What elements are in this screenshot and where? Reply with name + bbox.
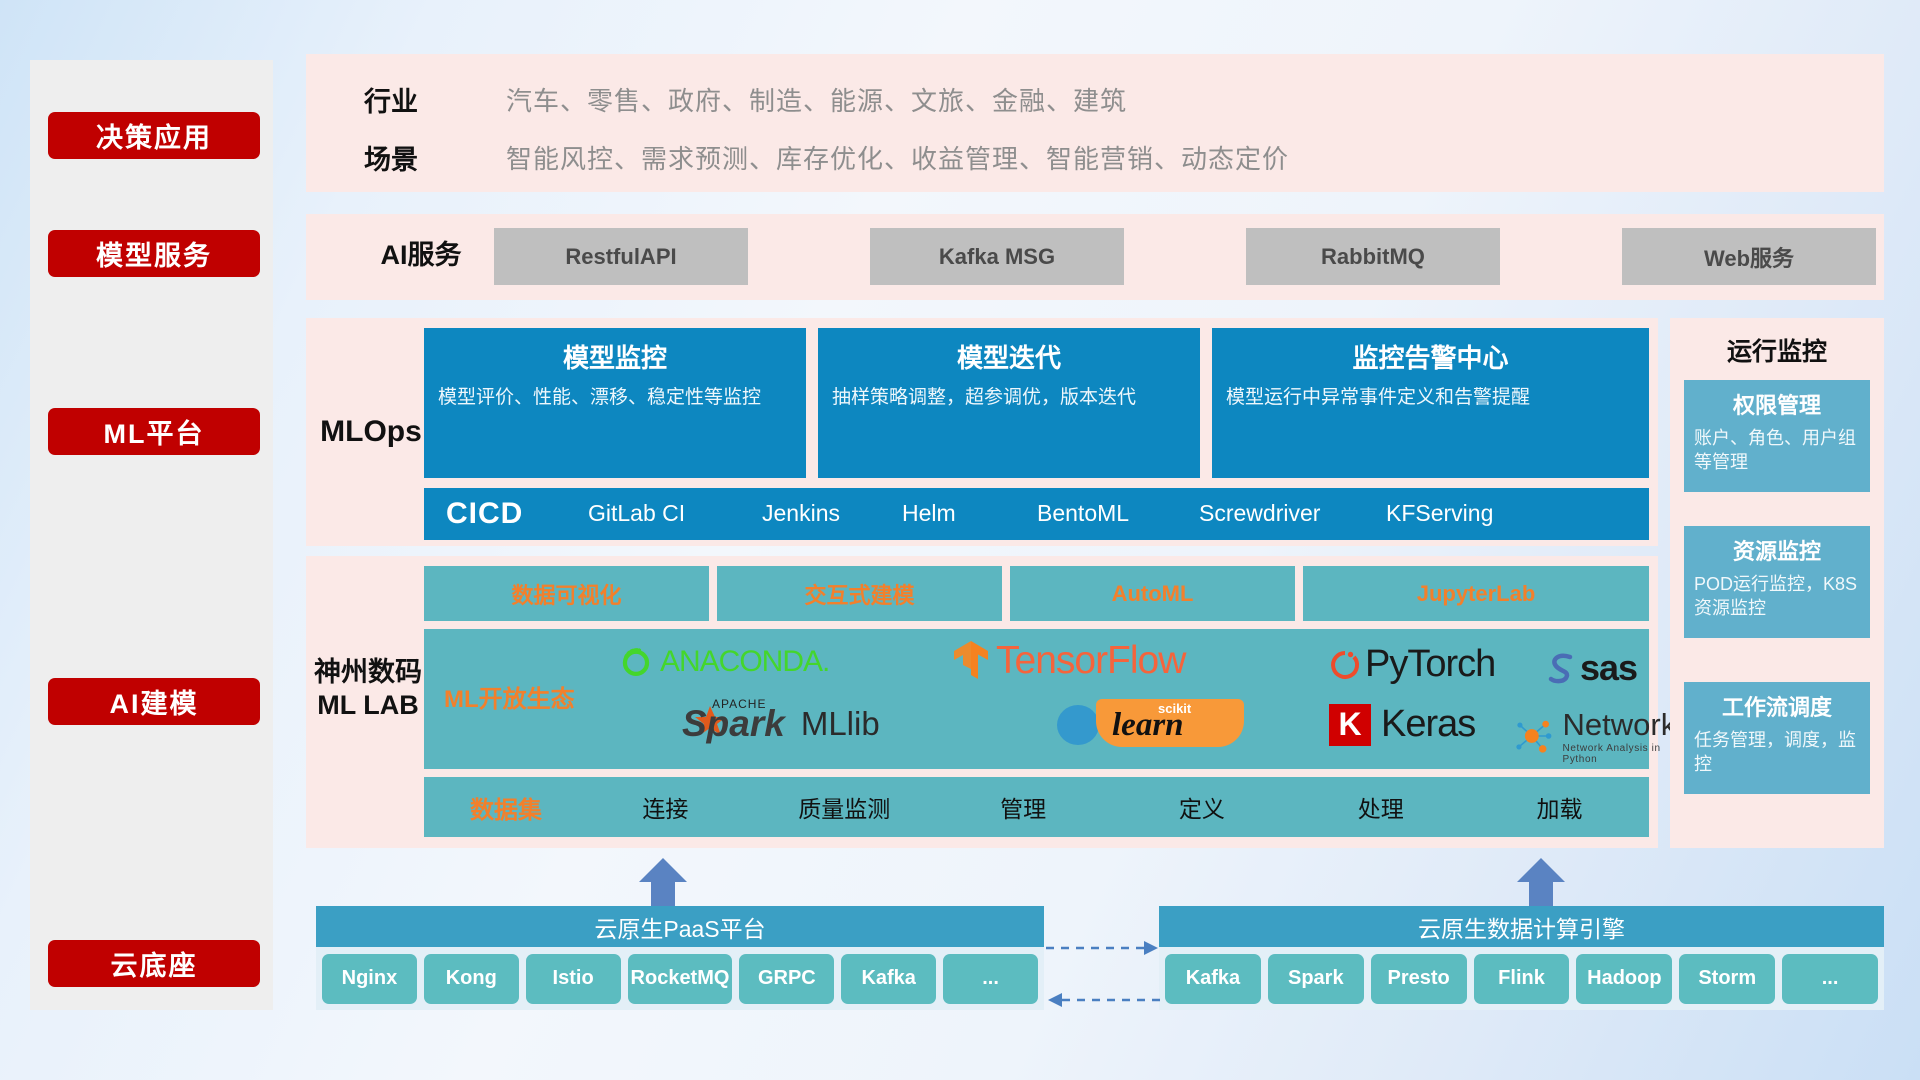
mlops-panel: MLOps 模型监控 模型评价、性能、漂移、稳定性等监控 模型迭代 抽样策略调整…: [306, 318, 1658, 546]
paas-up-arrow-icon: [637, 858, 689, 908]
networkx-graph-icon: [1513, 716, 1557, 756]
sas-mark-icon: [1544, 651, 1578, 685]
keras-logo: K Keras: [1329, 703, 1475, 746]
monitoring-panel: 运行监控 权限管理 账户、角色、用户组等管理 资源监控 POD运行监控，K8S资…: [1670, 318, 1884, 848]
tool-tab-automl[interactable]: AutoML: [1010, 566, 1295, 621]
compute-chip-hadoop[interactable]: Hadoop: [1576, 954, 1672, 1004]
dataset-item-connect[interactable]: 连接: [576, 790, 755, 824]
compute-up-arrow-icon: [1515, 858, 1567, 908]
tool-tab-jupyterlab[interactable]: JupyterLab: [1303, 566, 1649, 621]
cicd-item-helm[interactable]: Helm: [902, 500, 1020, 528]
monitoring-card-title: 工作流调度: [1694, 690, 1860, 722]
ai-service-chip-rabbitmq[interactable]: RabbitMQ: [1246, 228, 1500, 285]
ai-service-chip-web-service[interactable]: Web服务: [1622, 228, 1876, 285]
compute-engine-block: 云原生数据计算引擎 Kafka Spark Presto Flink Hadoo…: [1159, 906, 1884, 1010]
dataset-item-define[interactable]: 定义: [1112, 790, 1291, 824]
cicd-item-bentoml[interactable]: BentoML: [1037, 500, 1155, 528]
cicd-item-screwdriver[interactable]: Screwdriver: [1199, 500, 1317, 528]
cicd-item-gitlab-ci[interactable]: GitLab CI: [588, 500, 706, 528]
pytorch-wordmark: PyTorch: [1365, 643, 1495, 686]
mlops-card-title: 模型监控: [438, 338, 792, 375]
anaconda-logo: ANACONDA.: [619, 645, 829, 679]
monitoring-card-title: 资源监控: [1694, 534, 1860, 566]
compute-chip-flink[interactable]: Flink: [1474, 954, 1570, 1004]
dataset-label: 数据集: [436, 790, 576, 825]
monitoring-card-workflow[interactable]: 工作流调度 任务管理，调度，监控: [1684, 682, 1870, 794]
dataset-band: 数据集 连接 质量监测 管理 定义 处理 加载: [424, 777, 1649, 837]
dataset-item-load[interactable]: 加载: [1470, 790, 1649, 824]
monitoring-card-permissions[interactable]: 权限管理 账户、角色、用户组等管理: [1684, 380, 1870, 492]
tool-tab-interactive-modeling[interactable]: 交互式建模: [717, 566, 1002, 621]
mlops-label: MLOps: [316, 414, 426, 451]
dataset-item-manage[interactable]: 管理: [934, 790, 1113, 824]
dataset-item-process[interactable]: 处理: [1291, 790, 1470, 824]
paas-chip-more[interactable]: ...: [943, 954, 1038, 1004]
scenario-label: 场景: [364, 138, 418, 177]
keras-mark-icon: K: [1329, 704, 1371, 746]
cicd-item-jenkins[interactable]: Jenkins: [762, 500, 880, 528]
scenario-value: 智能风控、需求预测、库存优化、收益管理、智能营销、动态定价: [506, 139, 1289, 176]
monitoring-card-desc: 账户、角色、用户组等管理: [1694, 426, 1860, 475]
ml-ecosystem-band: ML开放生态 ANACONDA. TensorFlow: [424, 629, 1649, 769]
ml-lab-label-line1: 神州数码: [310, 656, 426, 689]
anaconda-mark-icon: [619, 645, 653, 679]
cicd-title: CICD: [446, 497, 523, 531]
cicd-item-kfserving[interactable]: KFServing: [1386, 500, 1504, 528]
paas-chip-kafka[interactable]: Kafka: [841, 954, 936, 1004]
industry-label: 行业: [364, 80, 418, 119]
rail-tag-decision-app[interactable]: 决策应用: [48, 112, 260, 159]
ml-lab-panel: 神州数码 ML LAB 数据可视化 交互式建模 AutoML JupyterLa…: [306, 556, 1658, 848]
ml-ecosystem-label: ML开放生态: [444, 679, 575, 714]
ai-service-chip-kafka-msg[interactable]: Kafka MSG: [870, 228, 1124, 285]
scikit-learn-logo: scikit learn: [1054, 699, 1246, 749]
ai-service-chip-restfulapi[interactable]: RestfulAPI: [494, 228, 748, 285]
compute-chip-kafka[interactable]: Kafka: [1165, 954, 1261, 1004]
layer-rail: 决策应用 模型服务 ML平台 AI建模 云底座: [30, 60, 273, 1010]
mlops-card-alert-center[interactable]: 监控告警中心 模型运行中异常事件定义和告警提醒: [1212, 328, 1649, 478]
monitoring-card-title: 权限管理: [1694, 388, 1860, 420]
pytorch-mark-icon: [1329, 647, 1361, 683]
mlops-card-desc: 抽样策略调整，超参调优，版本迭代: [832, 385, 1186, 411]
paas-platform-title: 云原生PaaS平台: [316, 906, 1044, 947]
tensorflow-logo: TensorFlow: [952, 639, 1185, 683]
rail-tag-cloud-base[interactable]: 云底座: [48, 940, 260, 987]
mlops-card-desc: 模型评价、性能、漂移、稳定性等监控: [438, 385, 792, 411]
mlops-card-title: 模型迭代: [832, 338, 1186, 375]
mllib-wordmark: MLlib: [801, 705, 880, 743]
industry-value: 汽车、零售、政府、制造、能源、文旅、金融、建筑: [506, 81, 1127, 118]
spark-apache-text: APACHE: [712, 697, 766, 711]
ai-services-label: AI服务: [346, 239, 496, 272]
compute-chip-presto[interactable]: Presto: [1371, 954, 1467, 1004]
cicd-bar: CICD GitLab CI Jenkins Helm BentoML Scre…: [424, 488, 1649, 540]
paas-chip-row: Nginx Kong Istio RocketMQ GRPC Kafka ...: [316, 947, 1044, 1010]
rail-tag-model-service[interactable]: 模型服务: [48, 230, 260, 277]
monitoring-card-desc: 任务管理，调度，监控: [1694, 728, 1860, 777]
tensorflow-mark-icon: [952, 639, 992, 683]
paas-chip-nginx[interactable]: Nginx: [322, 954, 417, 1004]
applications-panel: 行业 汽车、零售、政府、制造、能源、文旅、金融、建筑 场景 智能风控、需求预测、…: [306, 54, 1884, 192]
spark-mllib-logo: APACHE Spark MLlib: [674, 703, 880, 745]
paas-chip-grpc[interactable]: GRPC: [739, 954, 834, 1004]
learn-wordmark: learn: [1112, 707, 1184, 744]
mlops-card-model-monitoring[interactable]: 模型监控 模型评价、性能、漂移、稳定性等监控: [424, 328, 806, 478]
paas-platform-block: 云原生PaaS平台 Nginx Kong Istio RocketMQ GRPC…: [316, 906, 1044, 1010]
keras-wordmark: Keras: [1381, 703, 1475, 746]
rail-tag-ai-modeling[interactable]: AI建模: [48, 678, 260, 725]
mlops-card-model-iteration[interactable]: 模型迭代 抽样策略调整，超参调优，版本迭代: [818, 328, 1200, 478]
paas-chip-istio[interactable]: Istio: [526, 954, 621, 1004]
ml-lab-label: 神州数码 ML LAB: [310, 656, 426, 722]
sas-wordmark: sas: [1580, 647, 1637, 689]
rail-tag-ml-platform[interactable]: ML平台: [48, 408, 260, 455]
paas-compute-connector: [1044, 930, 1162, 1020]
compute-chip-storm[interactable]: Storm: [1679, 954, 1775, 1004]
compute-chip-spark[interactable]: Spark: [1268, 954, 1364, 1004]
tensorflow-wordmark: TensorFlow: [996, 639, 1185, 683]
compute-engine-title: 云原生数据计算引擎: [1159, 906, 1884, 947]
monitoring-card-resources[interactable]: 资源监控 POD运行监控，K8S资源监控: [1684, 526, 1870, 638]
monitoring-card-desc: POD运行监控，K8S资源监控: [1694, 572, 1860, 621]
paas-chip-kong[interactable]: Kong: [424, 954, 519, 1004]
ml-lab-label-line2: ML LAB: [310, 689, 426, 722]
pytorch-logo: PyTorch: [1329, 643, 1495, 686]
compute-chip-row: Kafka Spark Presto Flink Hadoop Storm ..…: [1159, 947, 1884, 1010]
paas-chip-rocketmq[interactable]: RocketMQ: [628, 954, 733, 1004]
compute-chip-more[interactable]: ...: [1782, 954, 1878, 1004]
architecture-diagram: 决策应用 模型服务 ML平台 AI建模 云底座 行业 汽车、零售、政府、制造、能…: [0, 0, 1920, 1080]
mlops-card-desc: 模型运行中异常事件定义和告警提醒: [1226, 385, 1635, 411]
anaconda-wordmark: ANACONDA.: [660, 645, 829, 679]
tool-tab-data-visualization[interactable]: 数据可视化: [424, 566, 709, 621]
dataset-item-quality[interactable]: 质量监测: [755, 790, 934, 824]
sas-logo: sas: [1544, 647, 1637, 689]
ai-services-panel: AI服务 RestfulAPI Kafka MSG RabbitMQ Web服务: [306, 214, 1884, 300]
mlops-card-title: 监控告警中心: [1226, 338, 1635, 375]
monitoring-title: 运行监控: [1670, 332, 1884, 368]
